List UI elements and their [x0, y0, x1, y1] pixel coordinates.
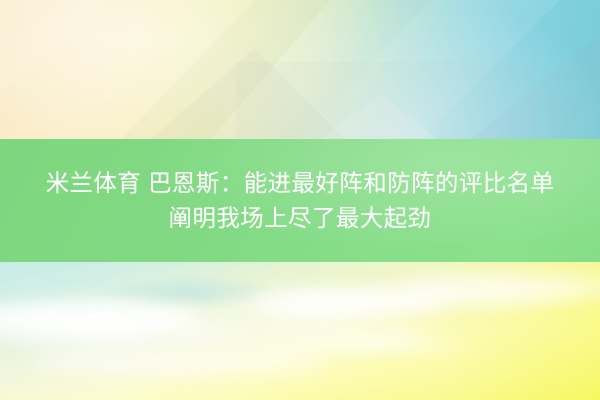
- headline-line-1: 米兰体育 巴恩斯：能进最好阵和防阵的评比名单: [0, 166, 600, 201]
- headline-line-2: 阐明我场上尽了最大起劲: [0, 201, 600, 236]
- banner-canvas: 米兰体育 巴恩斯：能进最好阵和防阵的评比名单 阐明我场上尽了最大起劲: [0, 0, 600, 400]
- chevron-shapes-icon: [0, 0, 600, 140]
- headline-band: 米兰体育 巴恩斯：能进最好阵和防阵的评比名单 阐明我场上尽了最大起劲: [0, 139, 600, 262]
- bottom-decoration: [0, 262, 600, 400]
- top-decoration: [0, 0, 600, 140]
- headline-text: 米兰体育 巴恩斯：能进最好阵和防阵的评比名单 阐明我场上尽了最大起劲: [0, 166, 600, 236]
- bottom-haze-overlay: [0, 262, 600, 400]
